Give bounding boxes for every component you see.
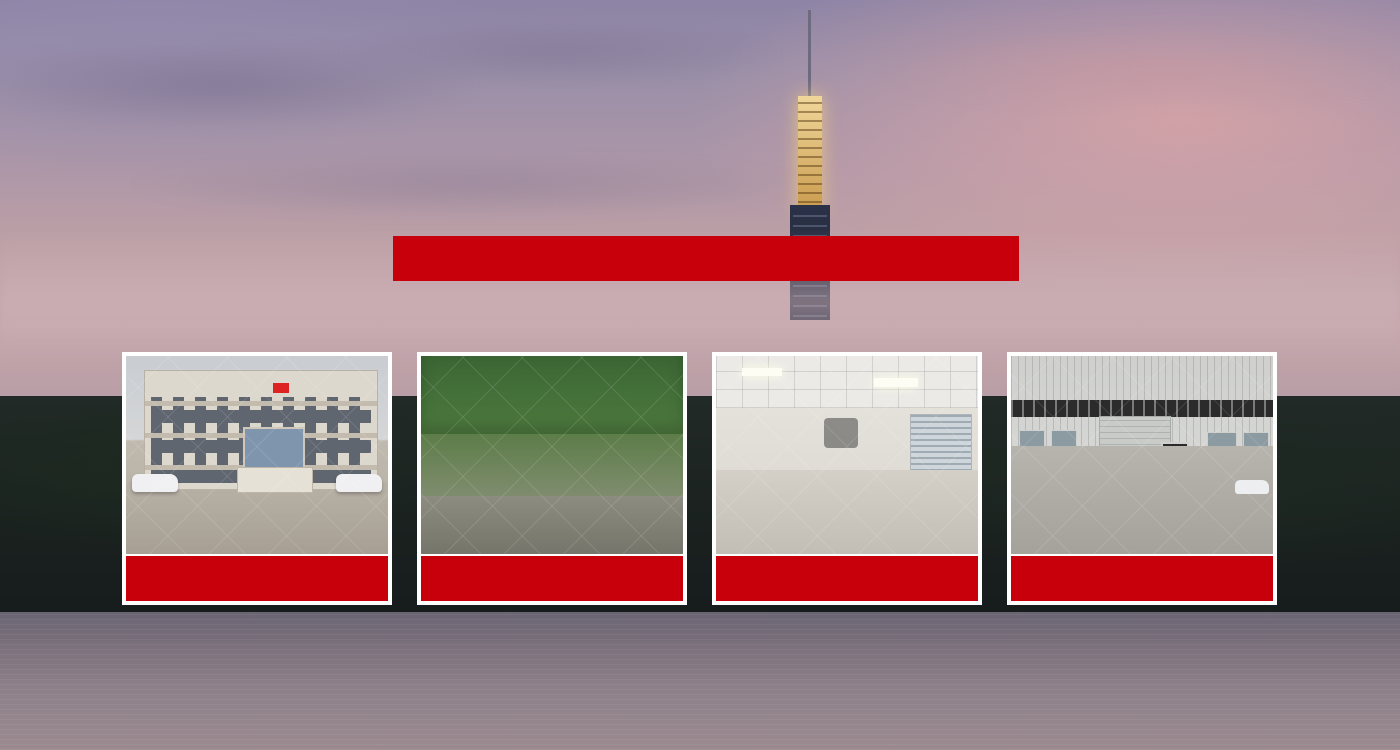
office-interior-photo <box>716 356 978 554</box>
river-water <box>0 612 1400 750</box>
parked-car <box>1235 480 1269 494</box>
tower-crown <box>798 96 822 212</box>
cloud <box>120 150 820 220</box>
company-headquarters-photo <box>126 356 388 554</box>
office-building <box>144 370 378 490</box>
wall-decal <box>824 418 858 448</box>
workshop-training-photo <box>1011 356 1273 554</box>
card-caption <box>421 554 683 601</box>
feature-card[interactable] <box>1007 352 1277 605</box>
card-caption <box>126 554 388 601</box>
feature-card[interactable] <box>712 352 982 605</box>
office-ceiling <box>716 356 978 408</box>
cloud <box>1010 96 1400 156</box>
subtitle-banner <box>393 236 1019 281</box>
window-blinds <box>910 414 972 472</box>
flag-icon <box>273 383 289 393</box>
feature-card[interactable] <box>122 352 392 605</box>
green-fields <box>421 356 683 434</box>
office-illustration <box>716 356 978 554</box>
card-caption <box>716 554 978 601</box>
headquarters-illustration <box>126 356 388 554</box>
feature-card[interactable] <box>417 352 687 605</box>
card-caption <box>1011 554 1273 601</box>
plant-yard <box>421 496 683 554</box>
tower-spire <box>808 10 811 102</box>
promo-banner <box>0 0 1400 750</box>
factory-yard <box>1011 446 1273 554</box>
entrance-canopy <box>237 467 313 493</box>
production-plant-aerial-photo <box>421 356 683 554</box>
office-floor <box>716 470 978 554</box>
cloud <box>330 18 790 88</box>
workshop-illustration <box>1011 356 1273 554</box>
feature-card-list <box>122 352 1278 605</box>
facade-window-strip <box>1011 400 1273 417</box>
plant-illustration <box>421 356 683 554</box>
